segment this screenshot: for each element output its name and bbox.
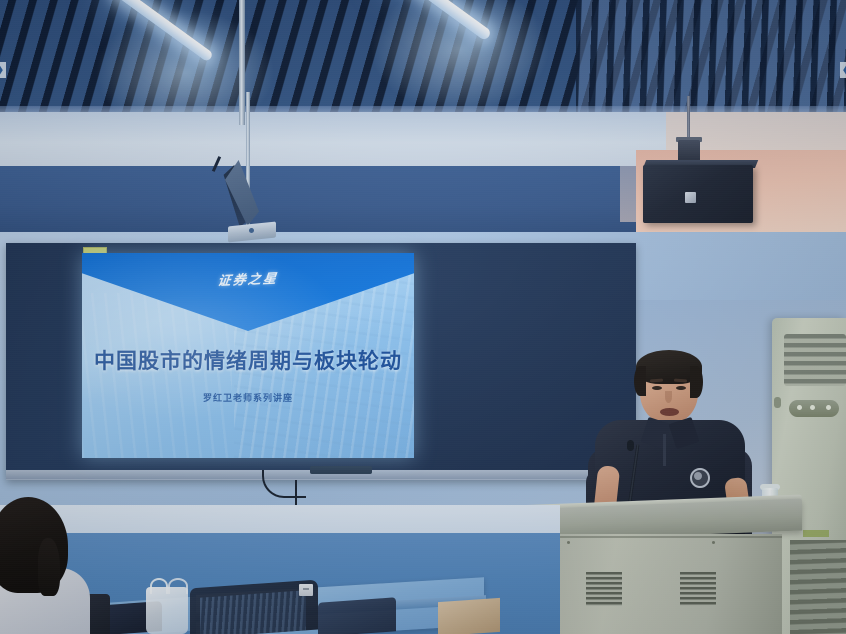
podium-vent-right	[680, 572, 716, 606]
presenter-hair-left	[634, 366, 646, 396]
slide-subtitle: 罗红卫老师系列讲座	[82, 391, 414, 404]
slide-skyline-texture-left	[82, 293, 232, 458]
air-conditioner-label	[803, 530, 829, 537]
air-conditioner-vent	[784, 334, 846, 386]
presenter-mouth	[660, 408, 679, 416]
ceiling-slat-panels-right	[576, 0, 846, 122]
projected-slide: 证券之星 中国股市的情绪周期与板块轮动 罗红卫老师系列讲座	[82, 253, 414, 458]
audience-member-hair-lock	[38, 538, 60, 596]
podium-screw-left	[567, 541, 570, 544]
presenter-eye-right	[676, 386, 686, 390]
air-conditioner-knob[interactable]	[774, 397, 781, 408]
projector-pole	[239, 0, 245, 125]
speaker-badge	[685, 192, 696, 203]
air-conditioner-lower-vent	[790, 540, 846, 634]
chevron-left-icon[interactable]: ❮	[840, 62, 846, 78]
presenter-eye-left	[652, 386, 662, 390]
presenter-nose	[665, 391, 672, 403]
slide-title: 中国股市的情绪周期与板块轮动	[82, 345, 414, 375]
microphone-head[interactable]	[627, 440, 634, 451]
chair-back-mesh	[200, 590, 306, 634]
presenter-hair-right	[690, 366, 703, 398]
presenter-shirt-placket	[663, 434, 666, 466]
projector-mount-indicator	[249, 228, 254, 233]
speaker-support-pole	[687, 96, 690, 142]
lecture-hall-photo: 证券之星 中国股市的情绪周期与板块轮动 罗红卫老师系列讲座 ❯ ❮	[0, 0, 846, 634]
ceiling	[0, 0, 846, 122]
podium-screw-right	[712, 541, 715, 544]
presenter-shirt-logo-inner	[694, 472, 702, 480]
wall-accent-band	[0, 166, 640, 232]
wall-outlet[interactable]	[299, 584, 313, 596]
air-conditioner-indicator-2	[810, 405, 815, 410]
blackboard-tray-clip	[310, 466, 372, 474]
wall-speaker	[643, 165, 753, 223]
plastic-bag	[146, 587, 188, 634]
wall-outlet-slot	[303, 588, 309, 590]
podium-front-panel	[540, 534, 782, 634]
chevron-right-icon[interactable]: ❯	[0, 62, 6, 78]
air-conditioner-indicator-1	[797, 405, 802, 410]
chair-back-secondary	[318, 597, 396, 634]
podium-seam	[540, 536, 782, 538]
podium-vent-left	[586, 572, 622, 606]
desk-wood-right	[438, 598, 500, 634]
air-conditioner-indicator-3	[826, 405, 831, 410]
